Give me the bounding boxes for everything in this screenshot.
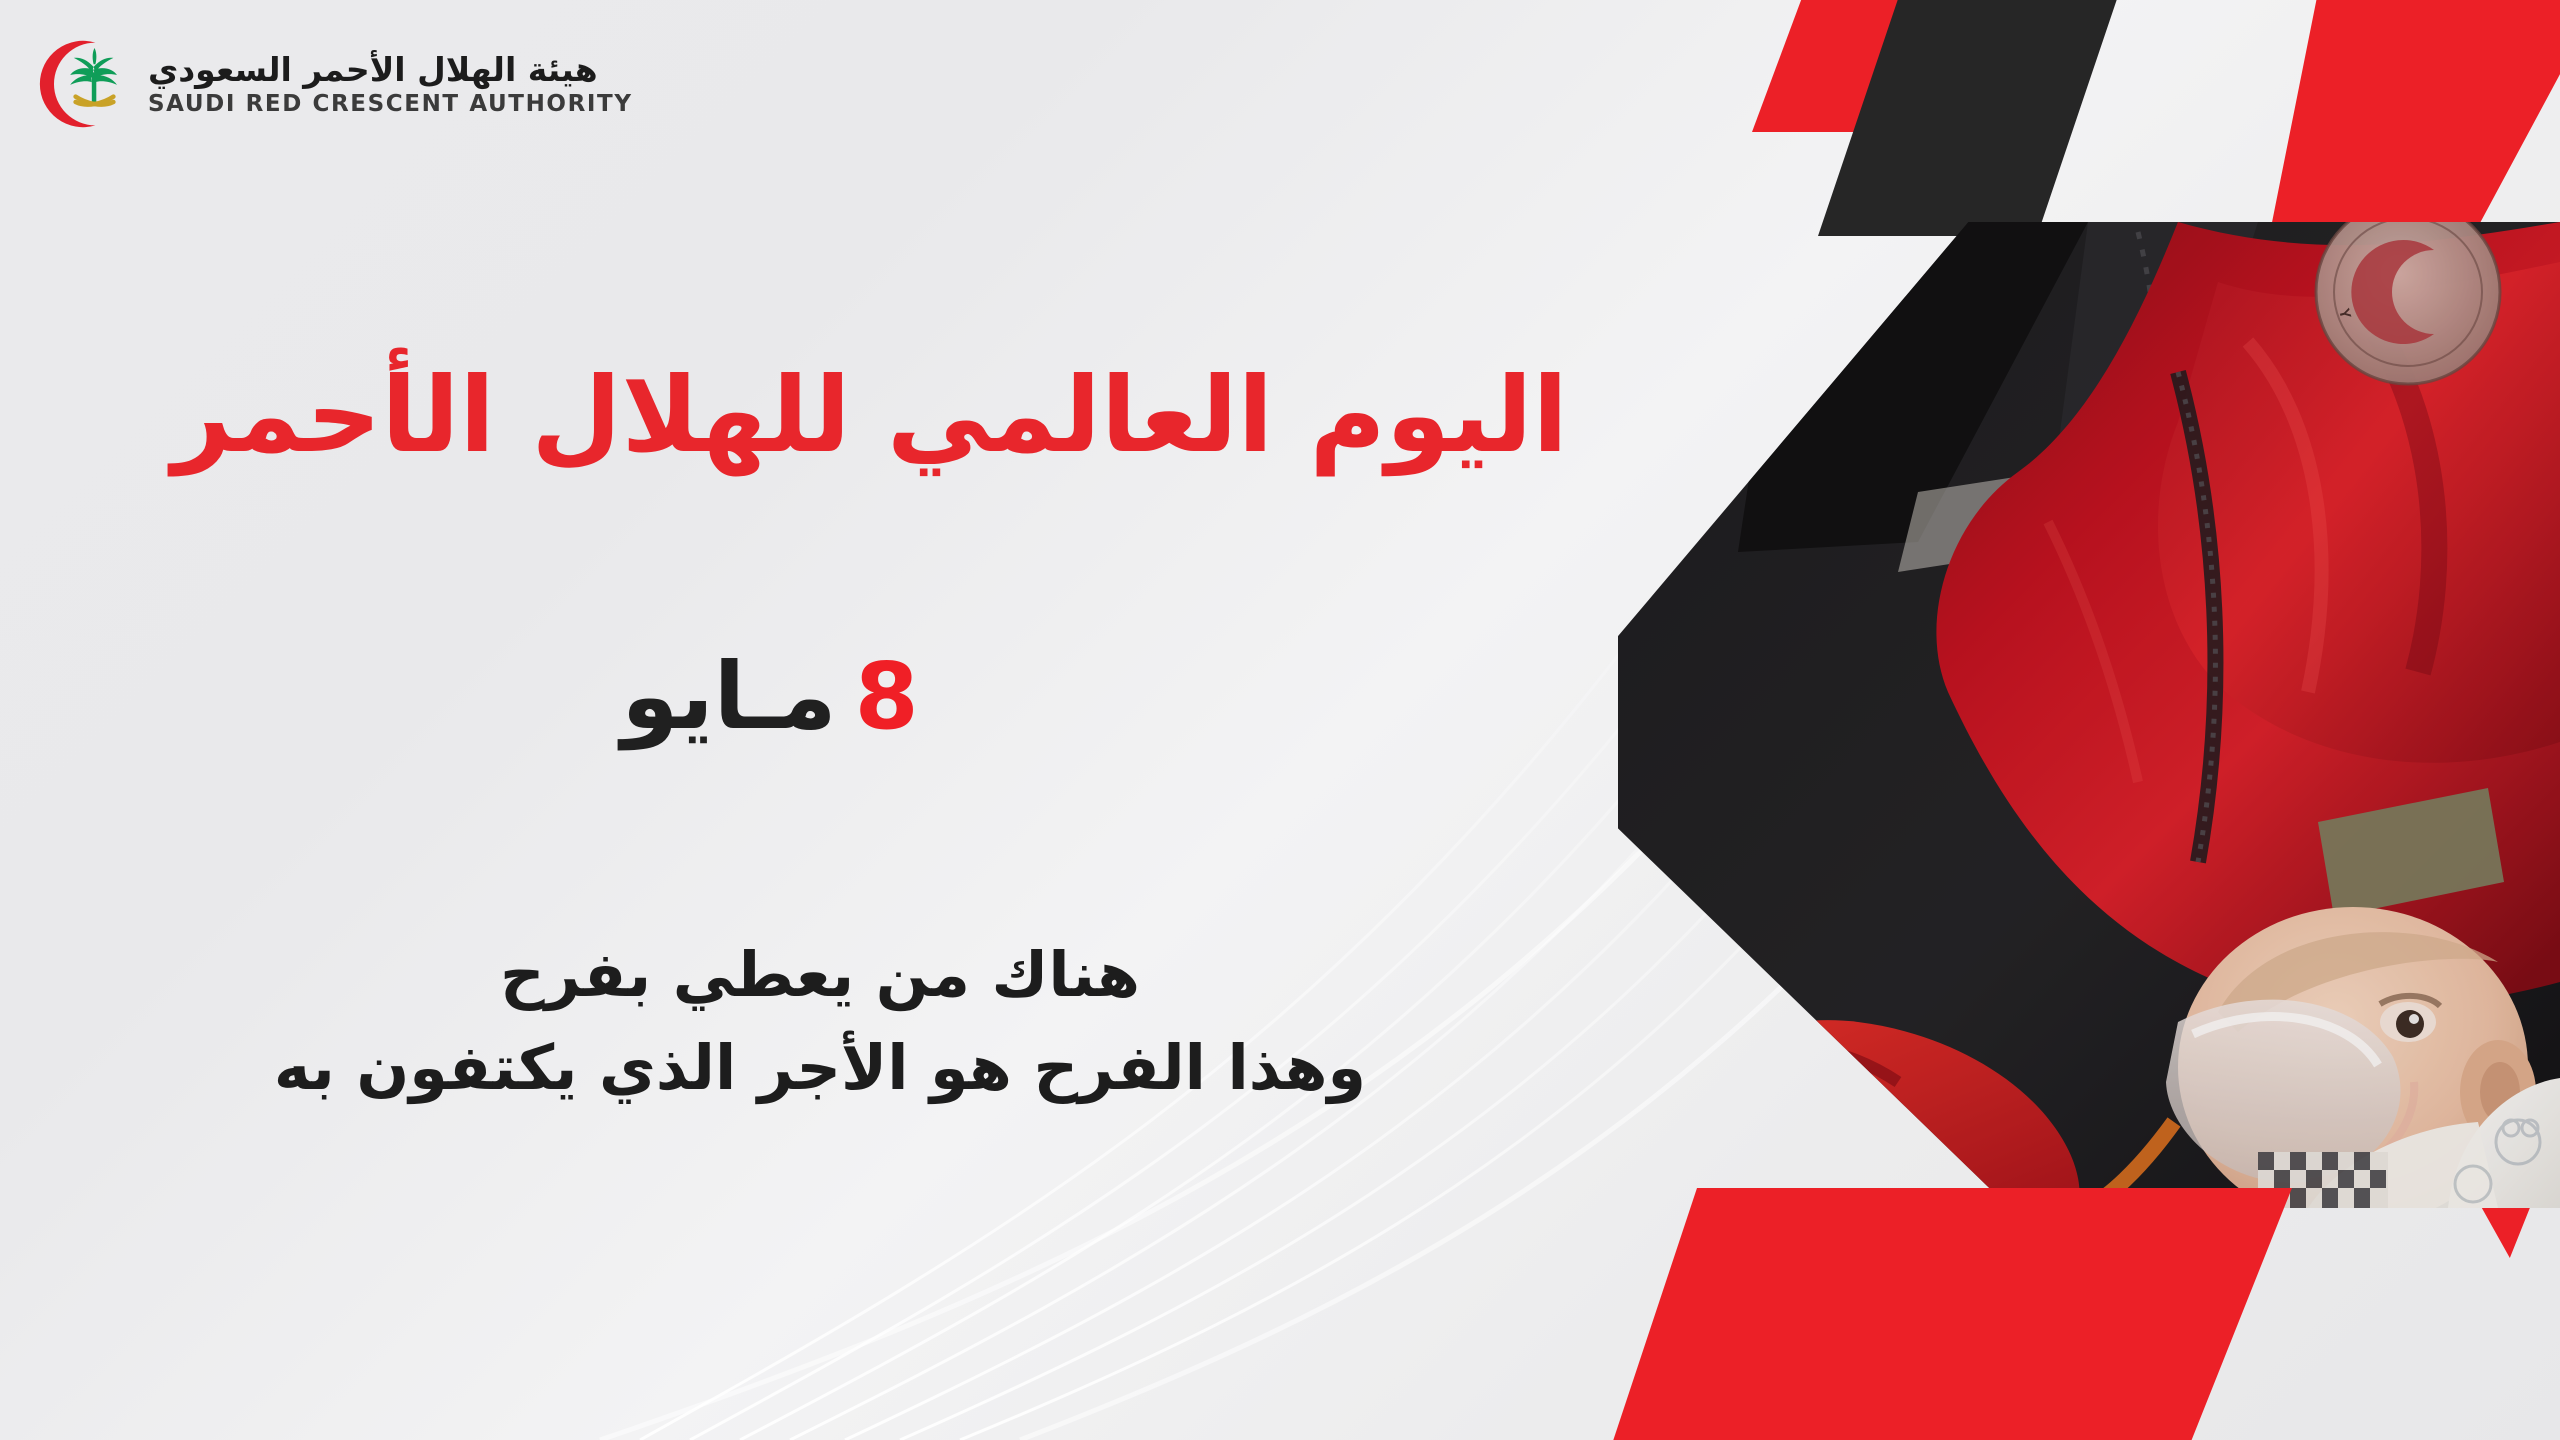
slogan-line-1: هناك من يعطي بفرح — [150, 928, 1490, 1021]
red-bottom-parallelogram — [1612, 1188, 2292, 1440]
logo-english-name: SAUDI RED CRESCENT AUTHORITY — [148, 93, 633, 116]
event-date: 8مـايو — [150, 646, 1390, 747]
red-crescent-with-palm-and-swords-icon — [18, 30, 126, 138]
black-parallelogram — [1818, 0, 2118, 236]
logo-arabic-name: هيئة الهلال الأحمر السعودي — [148, 53, 598, 86]
poster-canvas: SAUDI RED CRESCENT AUTHORITY — [0, 0, 2560, 1440]
paramedic-holding-baby-with-oxygen-mask-photo: SAUDI RED CRESCENT AUTHORITY — [1618, 222, 2560, 1208]
red-small-parallelogram — [1752, 0, 1982, 132]
slogan-line-2: وهذا الفرح هو الأجر الذي يكتفون به — [150, 1021, 1490, 1114]
event-date-month: مـايو — [621, 643, 836, 750]
slogan-text: هناك من يعطي بفرح وهذا الفرح هو الأجر ال… — [150, 928, 1490, 1114]
saudi-red-crescent-authority-logo[interactable]: هيئة الهلال الأحمر السعودي SAUDI RED CRE… — [18, 28, 498, 140]
event-date-day: 8 — [855, 643, 919, 750]
page-title: اليوم العالمي للهلال الأحمر — [150, 358, 1590, 472]
